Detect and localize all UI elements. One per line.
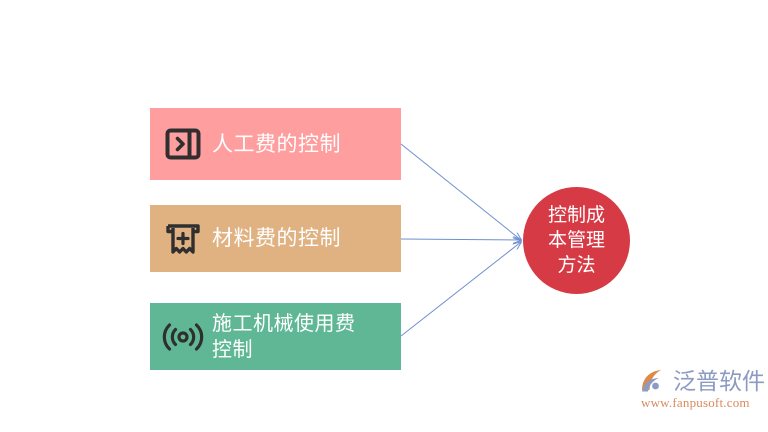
connector-labor-to-center [401, 144, 521, 240]
node-material-cost-label: 材料费的控制 [212, 225, 341, 252]
node-machinery-cost[interactable]: 施工机械使用费 控制 [150, 303, 401, 370]
broadcast-signal-icon [160, 314, 206, 360]
fanpu-logo-icon [640, 368, 670, 396]
center-node-cost-control-method[interactable]: 控制成 本管理 方法 [523, 187, 630, 294]
watermark-brand-row: 泛普软件 [640, 368, 765, 396]
node-material-cost[interactable]: 材料费的控制 [150, 205, 401, 272]
watermark-url-text: www.fanpusoft.com [641, 395, 750, 411]
connector-machine-to-center [401, 242, 521, 336]
node-labor-cost[interactable]: 人工费的控制 [150, 108, 401, 180]
receipt-plus-icon [160, 216, 206, 262]
node-machinery-cost-label: 施工机械使用费 控制 [212, 311, 356, 363]
connector-material-to-center [401, 239, 521, 240]
watermark-brand-text: 泛普软件 [673, 369, 765, 395]
panel-chevron-right-icon [160, 121, 206, 167]
diagram-canvas: 人工费的控制 材料费的控制 施工机械使用费 控制 [0, 0, 768, 432]
watermark-logo: 泛普软件 www.fanpusoft.com [640, 368, 768, 422]
center-node-label: 控制成 本管理 方法 [548, 203, 605, 278]
node-labor-cost-label: 人工费的控制 [212, 131, 341, 158]
